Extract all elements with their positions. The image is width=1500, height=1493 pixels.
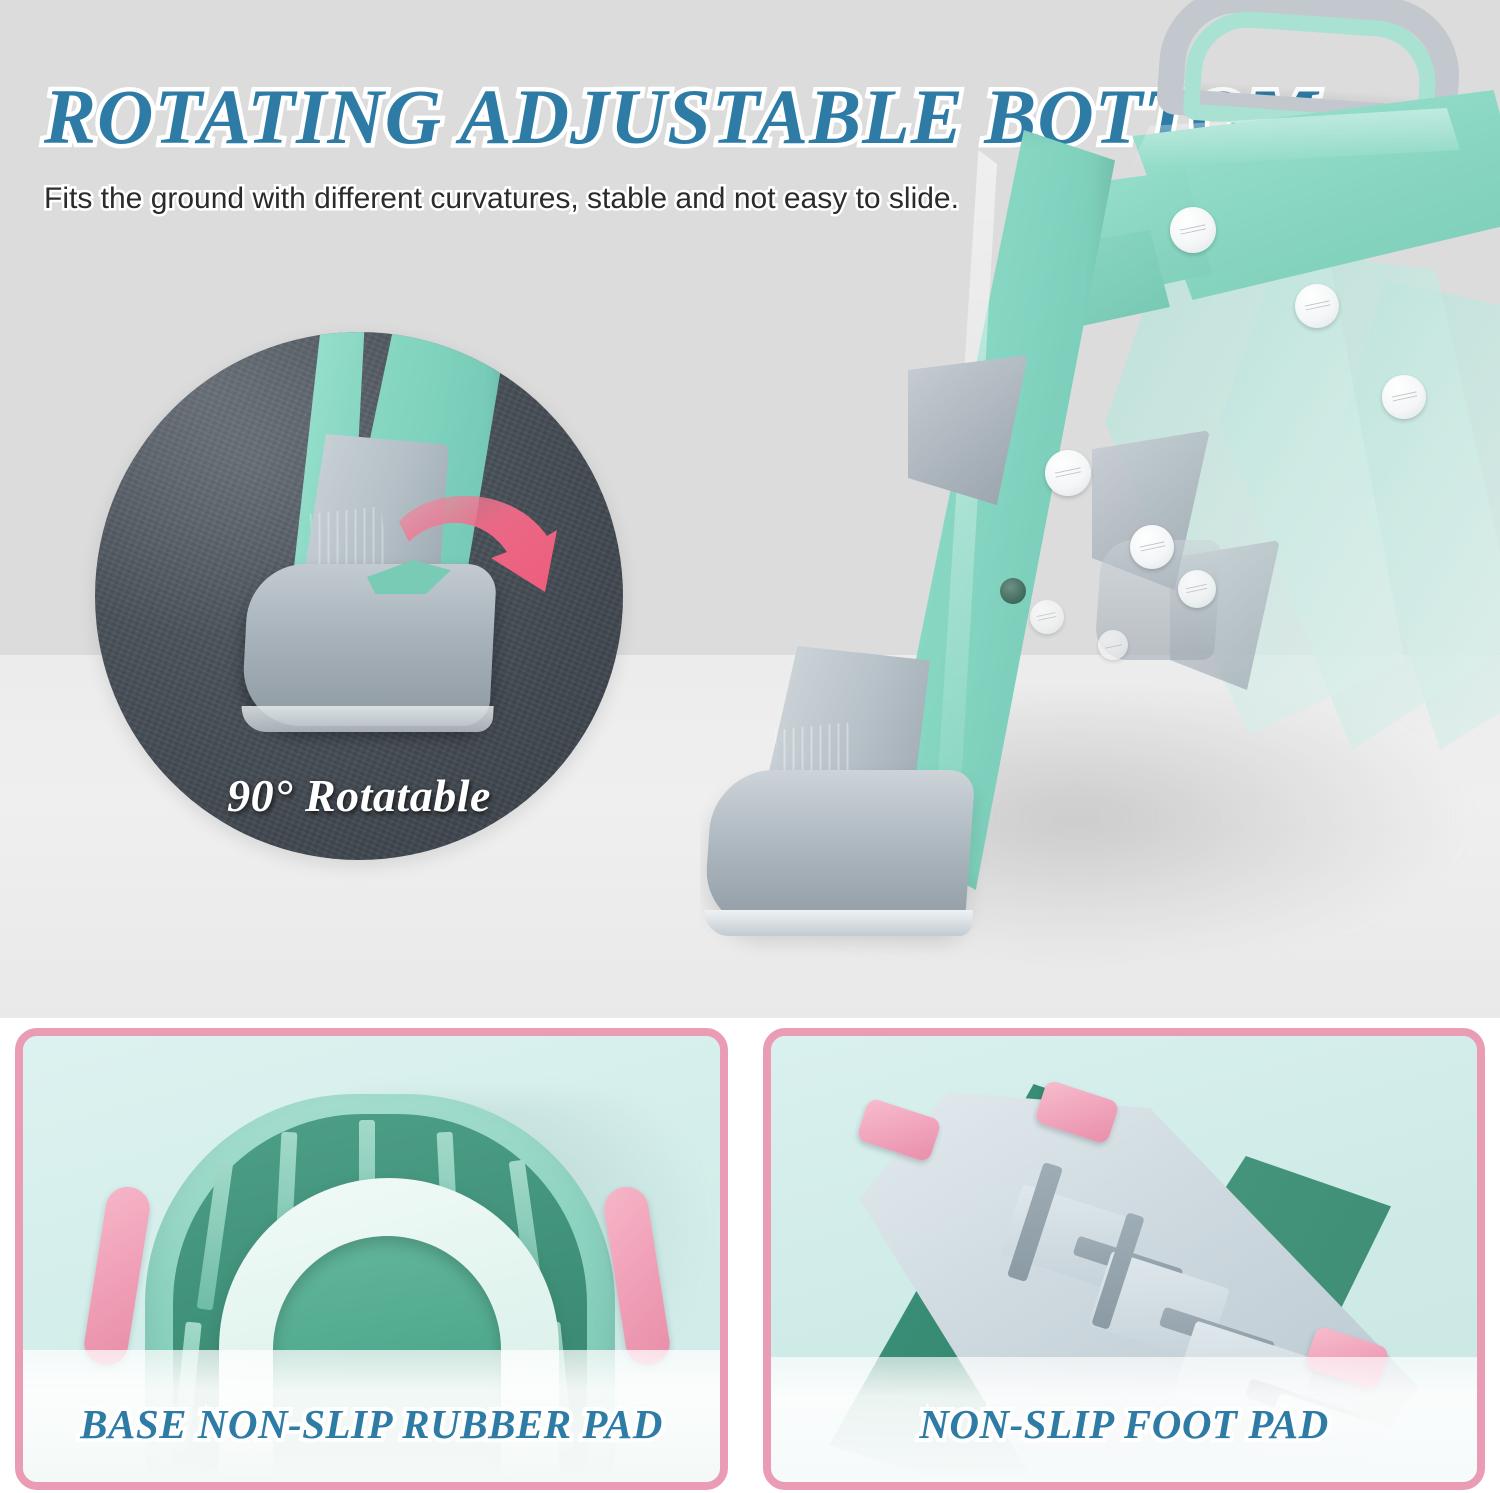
screw-cap-icon [1130, 525, 1174, 569]
panel-non-slip-foot-pad: NON-SLIP FOOT PAD [763, 1028, 1485, 1490]
screw-cap-icon [1030, 600, 1064, 634]
feature-panels: BASE NON-SLIP RUBBER PAD NON-SLI [0, 1018, 1500, 1493]
front-foot-sole [703, 910, 973, 936]
rotation-arrow-icon [395, 480, 605, 620]
panel-base-non-slip-rubber-pad: BASE NON-SLIP RUBBER PAD [15, 1028, 728, 1490]
inset-foot-sole [240, 706, 493, 732]
screw-cap-icon [1295, 284, 1339, 328]
panel-right-caption: NON-SLIP FOOT PAD [771, 1400, 1477, 1448]
screw-cap-icon [1170, 207, 1216, 253]
panel-left-caption: BASE NON-SLIP RUBBER PAD [23, 1400, 720, 1448]
product-photo [700, 0, 1500, 1000]
rotating-foot-inset-photo: 90° Rotatable [95, 332, 623, 860]
front-rubber-foot [702, 770, 975, 930]
screw-cap-icon [1178, 570, 1216, 608]
screw-cap-icon [1045, 450, 1091, 496]
hero-section: ROTATING ADJUSTABLE BOTTOM Fits the grou… [0, 0, 1500, 1018]
inset-caption: 90° Rotatable [95, 769, 623, 822]
screw-cap-icon [1382, 375, 1426, 419]
adjustment-hole [1000, 578, 1026, 604]
screw-cap-icon [1098, 630, 1128, 660]
